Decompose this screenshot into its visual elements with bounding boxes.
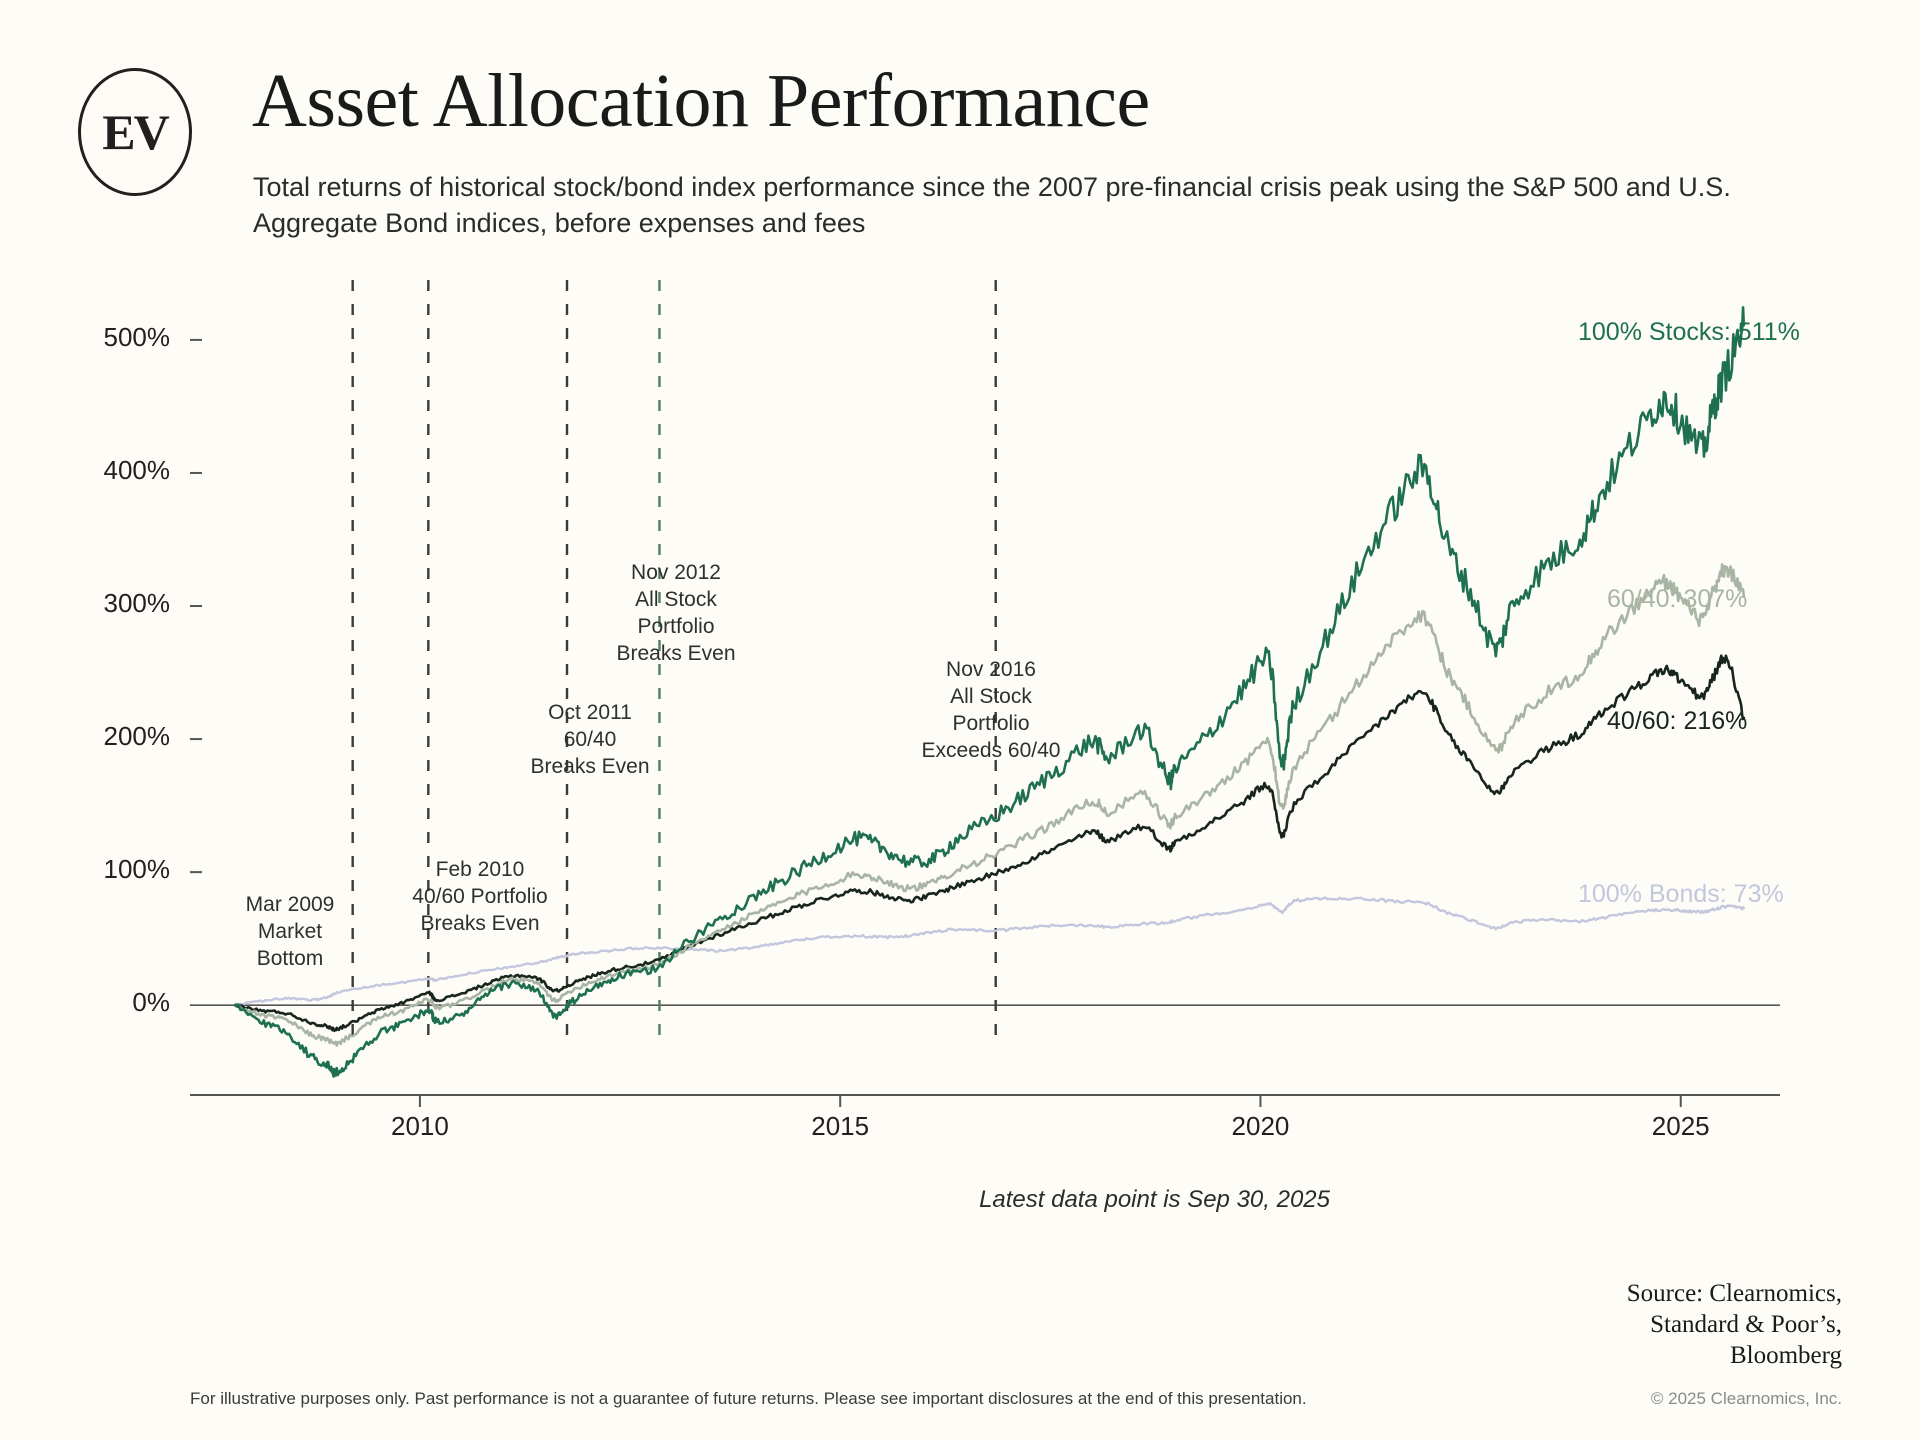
source-attribution: Source: Clearnomics, Standard & Poor’s, … [1627, 1278, 1842, 1371]
annotation-line: Nov 2012 [546, 560, 806, 587]
source-line-1: Source: Clearnomics, [1627, 1278, 1842, 1309]
series-label-100-stocks: 100% Stocks: 511% [1578, 318, 1800, 347]
annotation-line: 60/40 [460, 727, 720, 754]
annotation-nov-2012-all-stock-breaks-even: Nov 2012All StockPortfolioBreaks Even [546, 560, 806, 668]
annotation-line: Oct 2011 [460, 700, 720, 727]
annotation-nov-2016-all-stock-exceeds: Nov 2016All StockPortfolioExceeds 60/40 [861, 657, 1121, 765]
page-subtitle: Total returns of historical stock/bond i… [253, 170, 1783, 241]
series-label-40-60: 40/60: 216% [1607, 707, 1747, 736]
annotation-mar-2009-market-bottom: Mar 2009MarketBottom [160, 892, 420, 973]
annotation-line: Market [160, 919, 420, 946]
y-axis-tick-500: 500% [60, 322, 170, 353]
annotation-line: Feb 2010 [350, 857, 610, 884]
brand-logo: EV [78, 68, 192, 196]
y-axis-tick-400: 400% [60, 455, 170, 486]
y-axis-tick-200: 200% [60, 721, 170, 752]
disclaimer-text: For illustrative purposes only. Past per… [190, 1389, 1307, 1409]
source-line-2: Standard & Poor’s, [1627, 1309, 1842, 1340]
x-axis-tick-2015: 2015 [770, 1111, 910, 1142]
annotation-line: Breaks Even [460, 754, 720, 781]
annotation-line: All Stock [861, 684, 1121, 711]
x-axis-tick-2010: 2010 [350, 1111, 490, 1142]
annotation-line: Bottom [160, 946, 420, 973]
x-axis-tick-2025: 2025 [1611, 1111, 1751, 1142]
annotation-line: Exceeds 60/40 [861, 738, 1121, 765]
source-line-3: Bloomberg [1627, 1340, 1842, 1371]
annotation-line: All Stock [546, 587, 806, 614]
annotation-line: Breaks Even [350, 911, 610, 938]
annotation-line: Breaks Even [546, 641, 806, 668]
series-label-60-40: 60/40: 307% [1607, 585, 1747, 614]
annotation-line: Portfolio [861, 711, 1121, 738]
annotation-line: Nov 2016 [861, 657, 1121, 684]
copyright-text: © 2025 Clearnomics, Inc. [1651, 1389, 1842, 1409]
y-axis-tick-300: 300% [60, 588, 170, 619]
logo-monogram: EV [102, 107, 167, 157]
series-label-100-bonds: 100% Bonds: 73% [1578, 880, 1784, 909]
x-axis-tick-2020: 2020 [1190, 1111, 1330, 1142]
page-header: EV Asset Allocation Performance Total re… [0, 0, 1920, 240]
latest-data-point: Latest data point is Sep 30, 2025 [979, 1186, 1330, 1214]
y-axis-tick-100: 100% [60, 854, 170, 885]
annotation-line: Mar 2009 [160, 892, 420, 919]
y-axis-tick-0: 0% [60, 987, 170, 1018]
annotation-line: Portfolio [546, 614, 806, 641]
annotation-feb-2010-4060-breaks-even: Feb 201040/60 PortfolioBreaks Even [350, 857, 610, 938]
page-title: Asset Allocation Performance [252, 58, 1150, 145]
annotation-line: 40/60 Portfolio [350, 884, 610, 911]
annotation-oct-2011-6040-breaks-even: Oct 201160/40Breaks Even [460, 700, 720, 781]
